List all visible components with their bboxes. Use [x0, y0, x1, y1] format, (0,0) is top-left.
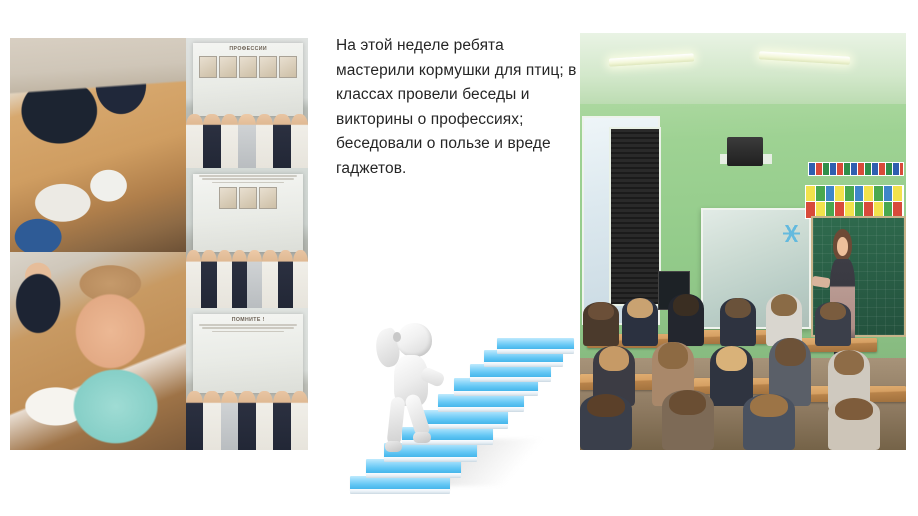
figure-shoe [385, 441, 403, 451]
slide-text-line [199, 175, 297, 177]
book-step [366, 459, 461, 474]
pupil-figure [256, 114, 273, 168]
book-step [497, 338, 574, 351]
pupil-figure [203, 114, 220, 168]
photo-desk-two-pupils [10, 38, 186, 252]
figure-back-leg [386, 396, 405, 446]
pupil-figure [580, 394, 632, 450]
slide-thumbnail-icon [239, 56, 257, 78]
photo-slide-professions-text [186, 168, 308, 308]
pupil-figure [278, 250, 293, 308]
pupil-figure [262, 250, 277, 308]
book-step [438, 394, 524, 409]
slide-text-line [212, 182, 284, 184]
pupil-figure [221, 114, 238, 168]
slide-title: ПРОФЕССИИ [193, 46, 303, 53]
slide-thumbnail-icon [259, 56, 277, 78]
pupil-figure [720, 298, 756, 346]
pupil-figure [291, 391, 308, 450]
photo-boy-drawing [10, 252, 186, 450]
body-text: На этой неделе ребята мастерили кормушки… [336, 34, 581, 181]
figure-hairband [393, 332, 401, 342]
pupil-figure [662, 390, 714, 450]
slide-thumbnails [193, 187, 303, 209]
illustration-figure-climbing-book-stairs [348, 312, 574, 494]
slide-thumbnail-icon [199, 56, 217, 78]
pupil-group [186, 382, 308, 450]
pupil-group [186, 241, 308, 308]
figure-head [397, 323, 432, 357]
slide-canvas: ПРОФЕССИИ [0, 0, 918, 516]
pupil-figure [232, 250, 247, 308]
pupil-desks [580, 250, 906, 450]
pupil-group [186, 106, 308, 168]
slide-text-line [212, 331, 284, 333]
slide-thumbnails [193, 56, 303, 78]
pupil-figure [293, 250, 308, 308]
slide-thumbnail-icon [219, 56, 237, 78]
classroom-ceiling [580, 33, 906, 104]
pupil-figure [273, 114, 290, 168]
slide-title: ПОМНИТЕ ! [193, 316, 303, 323]
slide-thumbnail-icon [219, 187, 237, 209]
slide-thumbnail-icon [239, 187, 257, 209]
slide-text-line [202, 178, 294, 180]
photo-slide-pomnite: ПОМНИТЕ ! [186, 308, 308, 450]
figure-climbing [382, 323, 450, 450]
number-strip [808, 162, 904, 176]
slide-text-line [199, 324, 297, 326]
pupil-figure [238, 114, 255, 168]
slide-thumbnail-icon [259, 187, 277, 209]
pupil-figure [247, 250, 262, 308]
slide-text-line [202, 327, 294, 329]
pupil-figure [203, 391, 220, 450]
photo-slide-professii: ПРОФЕССИИ [186, 38, 308, 168]
pupil-figure [186, 250, 201, 308]
projector-icon [727, 137, 763, 166]
pupil-figure [238, 391, 255, 450]
pupil-figure [828, 398, 880, 450]
snowflake-icon [783, 225, 800, 242]
collage-left-column [10, 38, 186, 450]
pupil-figure [217, 250, 232, 308]
book-step [350, 476, 449, 491]
pupil-figure [710, 346, 752, 406]
pupil-figure [273, 391, 290, 450]
pupil-figure [186, 114, 203, 168]
photo-collage: ПРОФЕССИИ [10, 38, 308, 450]
pupil-figure [622, 298, 658, 346]
figure-shoe [413, 432, 431, 442]
pupil-figure [186, 391, 203, 450]
slide-thumbnail-icon [279, 56, 297, 78]
pupil-figure [583, 302, 619, 346]
pupil-figure [256, 391, 273, 450]
pupil-figure [221, 391, 238, 450]
pupil-figure [815, 302, 851, 346]
collage-right-column: ПРОФЕССИИ [186, 38, 308, 450]
pupil-figure [291, 114, 308, 168]
pupil-figure [668, 294, 704, 346]
pupil-figure [743, 394, 795, 450]
pupil-figure [201, 250, 216, 308]
photo-classroom-lesson [580, 33, 906, 450]
